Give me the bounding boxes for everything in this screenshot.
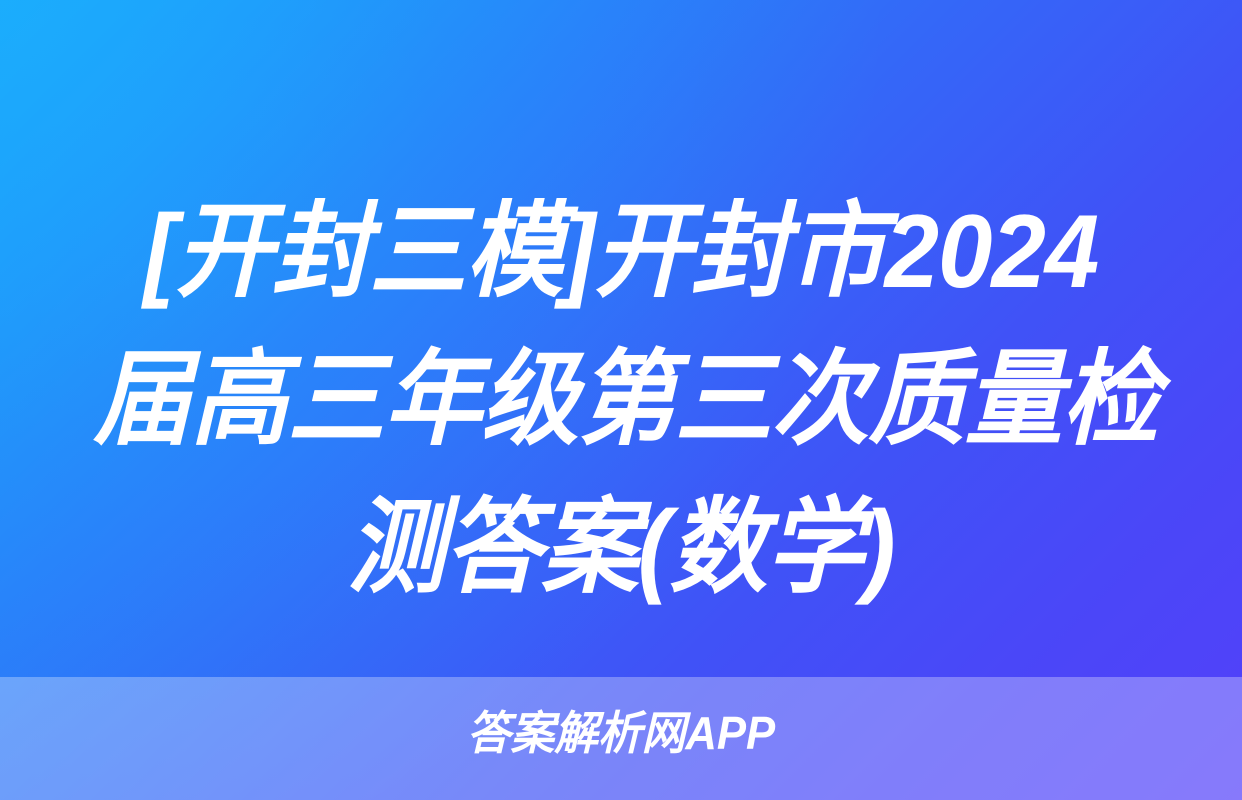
title-line-1: [开封三模]开封市2024 (94, 178, 1149, 326)
promo-banner: [开封三模]开封市2024 届高三年级第三次质量检 测答案(数学) 答案解析网A… (0, 0, 1242, 800)
title-line-3: 测答案(数学) (94, 474, 1149, 622)
page-title: [开封三模]开封市2024 届高三年级第三次质量检 测答案(数学) (0, 178, 1242, 622)
title-line-2: 届高三年级第三次质量检 (94, 326, 1149, 474)
watermark-text: 答案解析网APP (31, 706, 1211, 760)
